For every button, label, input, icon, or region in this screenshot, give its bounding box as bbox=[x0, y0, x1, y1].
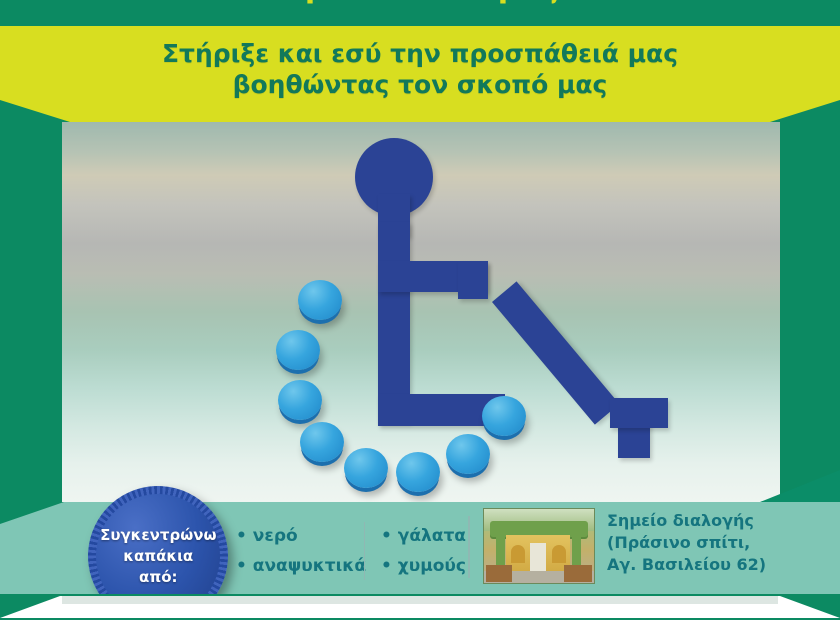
banner-headline: Στήριξε και εσύ την προσπάθειά μας βοηθώ… bbox=[0, 38, 840, 100]
photo-door bbox=[530, 543, 546, 571]
collection-point-line-1: Σημείο διαλογής bbox=[607, 510, 766, 532]
bottle-cap bbox=[446, 434, 490, 474]
badge-text-line-2: καπάκια bbox=[100, 546, 216, 567]
list-item: χυμούς bbox=[381, 556, 466, 576]
list-item: νερό bbox=[236, 526, 364, 546]
bottle-cap bbox=[344, 448, 388, 488]
banner-headline-line-2: βοηθώντας τον σκοπό μας bbox=[0, 69, 840, 100]
main-image-panel bbox=[62, 122, 780, 502]
section-divider bbox=[468, 516, 470, 578]
collection-point-address: Σημείο διαλογής (Πράσινο σπίτι, Αγ. Βασι… bbox=[607, 508, 766, 576]
collection-point-line-3: Αγ. Βασιλείου 62) bbox=[607, 554, 766, 576]
materials-column-2: γάλατα χυμούς bbox=[365, 518, 466, 584]
figure-forearm-shape bbox=[458, 261, 488, 299]
list-item: γάλατα bbox=[381, 526, 466, 546]
photo-arch-right bbox=[552, 545, 566, 563]
bottle-cap bbox=[276, 330, 320, 370]
poster-canvas: προσπάθειά μας Στήριξε και εσύ την προσπ… bbox=[0, 0, 840, 620]
figure-torso-shape bbox=[378, 222, 410, 422]
photo-arch-left bbox=[511, 545, 525, 563]
photo-planter-left bbox=[486, 565, 512, 582]
materials-list: νερό αναψυκτικά γάλατα χυμούς bbox=[236, 518, 466, 584]
collection-point-block: Σημείο διαλογής (Πράσινο σπίτι, Αγ. Βασι… bbox=[483, 508, 773, 588]
materials-column-1: νερό αναψυκτικά bbox=[236, 518, 364, 584]
top-green-strip: προσπάθειά μας bbox=[0, 0, 840, 26]
wheelchair-symbol-icon bbox=[62, 122, 780, 502]
badge-text-line-1: Συγκεντρώνω bbox=[100, 525, 216, 546]
green-house-photo bbox=[483, 508, 595, 584]
list-item: αναψυκτικά bbox=[236, 556, 364, 576]
bottle-cap bbox=[300, 422, 344, 462]
banner-headline-line-1: Στήριξε και εσύ την προσπάθειά μας bbox=[0, 38, 840, 69]
badge-text: Συγκεντρώνω καπάκια από: bbox=[100, 525, 216, 588]
photo-planter-right bbox=[564, 565, 592, 582]
bottle-cap bbox=[298, 280, 342, 320]
bottom-white-strip-shadow bbox=[62, 596, 778, 604]
bottle-cap bbox=[396, 452, 440, 492]
top-cutoff-headline: προσπάθειά μας bbox=[0, 0, 840, 5]
collection-point-line-2: (Πράσινο σπίτι, bbox=[607, 532, 766, 554]
bottle-cap bbox=[278, 380, 322, 420]
bottle-cap bbox=[482, 396, 526, 436]
badge-text-line-3: από: bbox=[100, 567, 216, 588]
figure-foot-shape bbox=[610, 398, 668, 428]
